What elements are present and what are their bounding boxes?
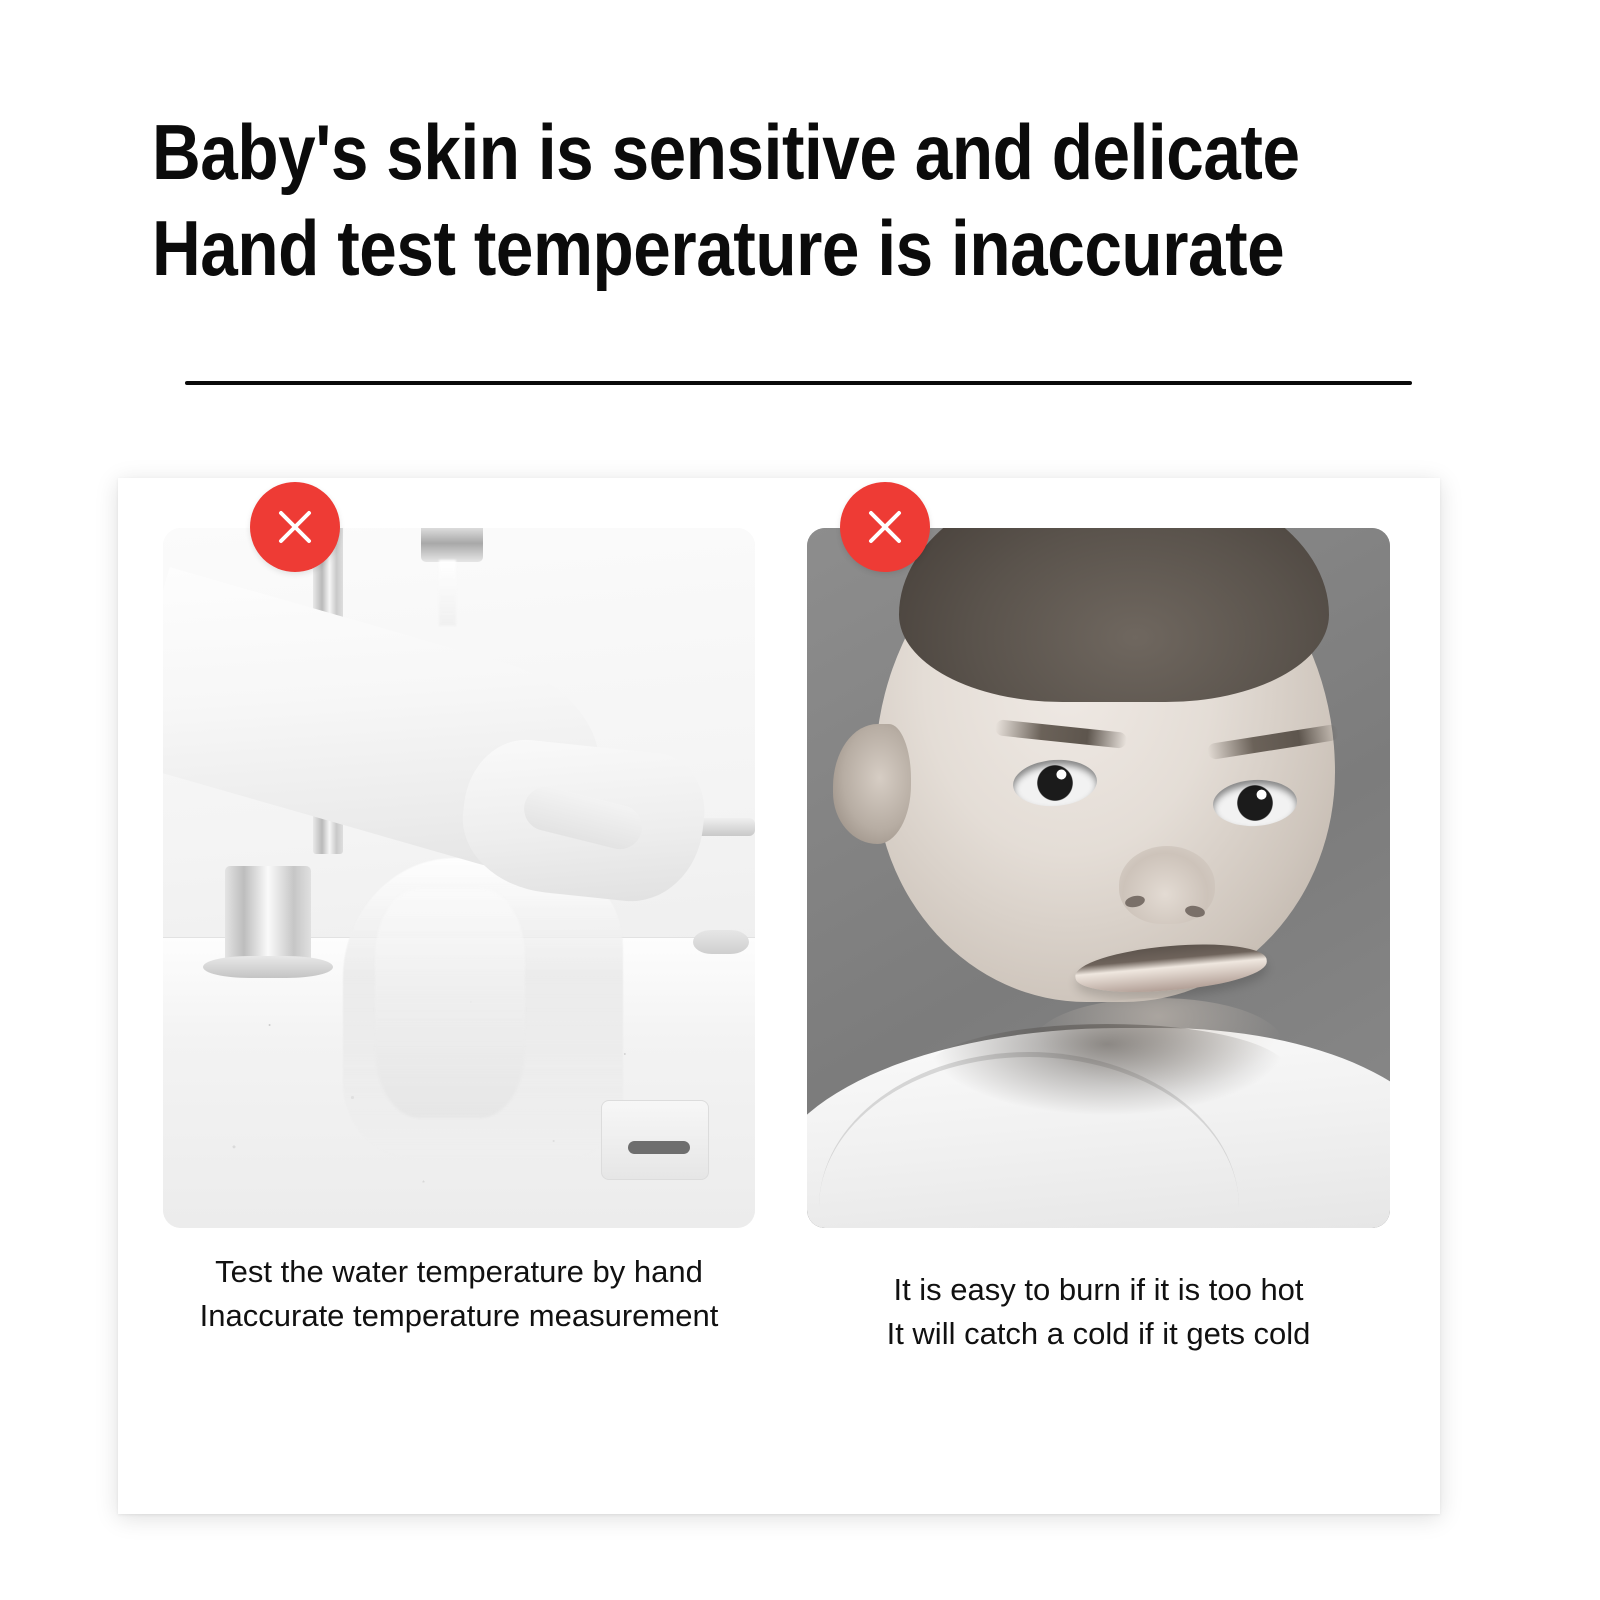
faucet-valve-right (693, 930, 749, 954)
title-divider (185, 381, 1412, 385)
photo-hand-test (163, 528, 755, 1228)
cross-icon-badge-unhappy-baby (840, 482, 930, 572)
faucet-valve-left (225, 866, 311, 962)
page-title-line-1: Baby's skin is sensitive and delicate (152, 104, 1277, 200)
baby-hair (899, 528, 1329, 702)
photo-unhappy-baby (807, 528, 1390, 1228)
cross-icon (273, 505, 317, 549)
poster-root: Baby's skin is sensitive and delicate Ha… (0, 0, 1600, 1600)
page-title: Baby's skin is sensitive and delicate Ha… (152, 104, 1277, 296)
faucet-spout-head (421, 528, 483, 562)
comparison-card: Test the water temperature by hand Inacc… (118, 478, 1440, 1514)
caption-hand-test: Test the water temperature by hand Inacc… (163, 1250, 755, 1338)
caption-hand-test-line-1: Test the water temperature by hand (163, 1250, 755, 1294)
caption-hand-test-line-2: Inaccurate temperature measurement (163, 1294, 755, 1338)
baby-neck-shadow (927, 1024, 1287, 1116)
water-splash-secondary (375, 888, 525, 1118)
caption-unhappy-baby: It is easy to burn if it is too hot It w… (807, 1268, 1390, 1356)
cross-icon-badge-hand-test (250, 482, 340, 572)
caption-unhappy-baby-line-2: It will catch a cold if it gets cold (807, 1312, 1390, 1356)
cross-icon (863, 505, 907, 549)
page-title-line-2: Hand test temperature is inaccurate (152, 200, 1277, 296)
baby-ear (833, 724, 911, 844)
caption-unhappy-baby-line-1: It is easy to burn if it is too hot (807, 1268, 1390, 1312)
water-stream (439, 560, 456, 626)
sink-drain-plate (601, 1100, 709, 1180)
